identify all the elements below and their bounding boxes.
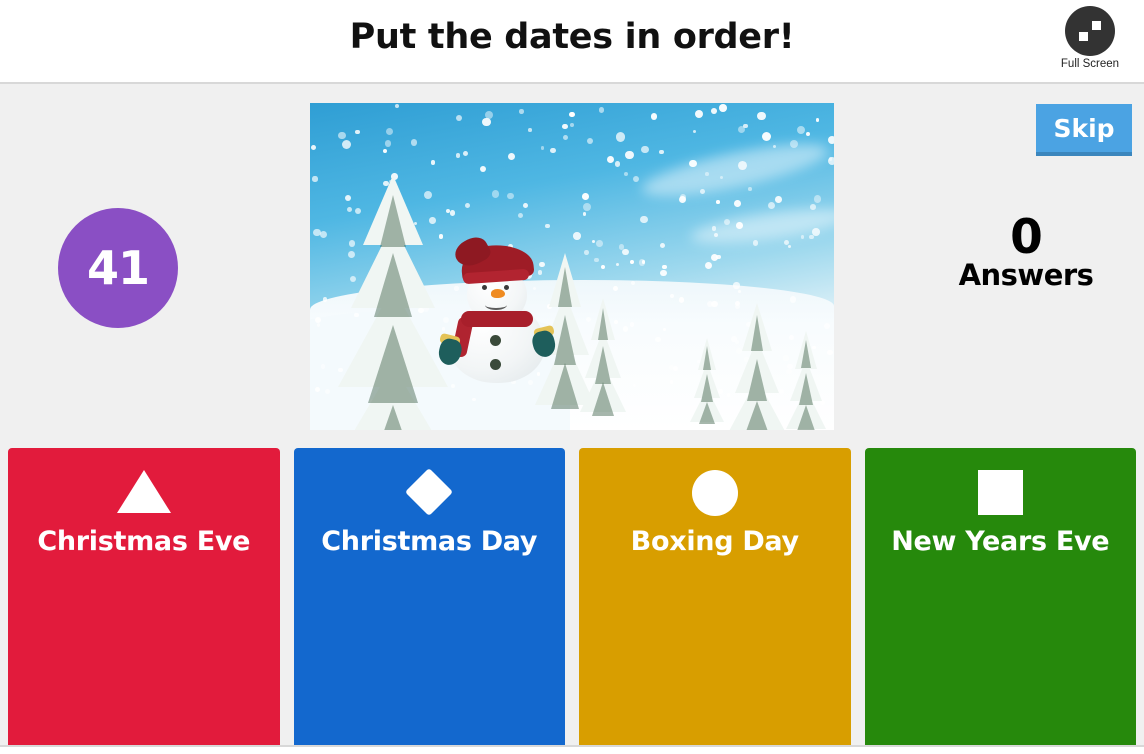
answers-counter: 0 Answers [940,216,1112,290]
snowman-carrot-nose [491,289,505,298]
snowflake-icon [705,262,712,269]
snowman-scarf [461,311,533,327]
bottom-strip [0,745,1144,754]
snowflake-icon [748,187,752,191]
snowflake-icon [411,139,417,145]
answer-tile-label: Boxing Day [579,526,851,557]
expand-icon-corner-tr [1092,21,1101,30]
snowflake-icon [757,112,765,120]
question-image [310,103,834,430]
snowflake-icon [528,128,532,132]
snowflake-icon [518,213,523,218]
snowflake-icon [660,270,666,276]
snowflake-icon [640,216,647,223]
snowflake-icon [596,240,603,247]
snowflake-icon [827,350,832,355]
snowflake-icon [790,140,798,148]
snowflake-icon [573,232,581,240]
snowflake-icon [705,172,709,176]
snowflake-icon [321,364,326,369]
square-icon [865,470,1137,516]
answer-tile-1[interactable]: Christmas Day [294,448,566,746]
pine-tree-icon [786,331,826,426]
snowflake-icon [679,297,685,303]
snowflake-icon [716,200,720,204]
pine-tree-icon [580,298,626,408]
diamond-icon [294,470,566,516]
snowflake-icon [716,255,721,260]
answer-tile-3[interactable]: New Years Eve [865,448,1137,746]
snowflake-icon [707,301,713,307]
snowflake-icon [775,196,782,203]
snowflake-icon [700,189,705,194]
quiz-screen: Put the dates in order! Full Screen Skip… [0,0,1144,754]
snowman-icon [437,253,557,383]
snowflake-icon [768,202,775,209]
triangle-icon [8,470,280,516]
header-bar: Put the dates in order! Full Screen [0,0,1144,84]
snowflake-icon [599,107,605,113]
snowman-button [490,335,501,346]
answer-tiles: Christmas Eve Christmas Day Boxing Day N… [0,448,1144,746]
snowflake-icon [660,243,665,248]
snowflake-icon [385,140,392,147]
snowflake-icon [519,109,524,114]
snowflake-icon [616,132,625,141]
answer-tile-label: Christmas Eve [8,526,280,557]
snowflake-icon [317,323,320,326]
snowman-button [490,359,501,370]
snowflake-icon [355,130,360,135]
snowflake-icon [689,160,697,168]
snowflake-icon [790,296,797,303]
answer-tile-2[interactable]: Boxing Day [579,448,851,746]
snowflake-icon [583,203,591,211]
snowflake-icon [311,145,316,150]
answers-label: Answers [940,260,1112,290]
snowflake-icon [814,195,821,202]
snowflake-icon [587,138,593,144]
snowflake-icon [625,151,634,160]
snowflake-icon [736,222,743,229]
skip-button[interactable]: Skip [1036,104,1132,156]
timer-value: 41 [87,241,149,295]
snowflake-icon [338,132,346,140]
countdown-timer: 41 [58,208,178,328]
fullscreen-label: Full Screen [1050,58,1130,70]
snowflake-icon [563,135,568,140]
snowflake-icon [630,322,635,327]
snowman-eye-left [482,285,487,290]
answer-tile-label: Christmas Day [294,526,566,557]
circle-icon [579,470,851,516]
expand-icon-corner-bl [1079,32,1088,41]
snowflake-icon [712,226,716,230]
snowflake-icon [639,259,646,266]
snowflake-icon [806,132,810,136]
snowflake-icon [680,194,686,200]
expand-icon [1065,6,1115,56]
pine-tree-icon [728,303,786,428]
snowflake-icon [828,136,834,144]
answer-tile-0[interactable]: Christmas Eve [8,448,280,746]
fullscreen-button[interactable]: Full Screen [1050,6,1130,78]
snowflake-icon [810,204,816,210]
snowflake-icon [743,124,747,128]
snowflake-icon [784,240,789,245]
snowflake-icon [719,104,727,112]
snowflake-icon [824,323,830,329]
snowflake-icon [733,282,739,288]
snowman-eye-right [504,285,509,290]
snowflake-icon [472,398,476,402]
snowflake-icon [569,112,575,118]
page-title: Put the dates in order! [0,17,1144,57]
snowflake-icon [607,156,614,163]
pine-tree-icon [690,338,724,420]
snowflake-icon [738,161,747,170]
snowflake-icon [714,233,718,237]
snowflake-icon [797,126,805,134]
answers-count: 0 [940,216,1112,260]
snowflake-icon [582,193,589,200]
snowflake-icon [788,245,791,248]
snowflake-icon [523,203,528,208]
snowman-mouth [485,300,507,310]
snowflake-icon [562,124,567,129]
snowflake-icon [315,387,320,392]
snowflake-icon [670,294,674,298]
snowflake-icon [670,380,673,383]
snowflake-icon [828,157,834,165]
snowflake-icon [624,172,628,176]
snowflake-icon [641,146,649,154]
snowflake-icon [655,337,661,343]
answer-tile-label: New Years Eve [865,526,1137,557]
snowflake-icon [812,228,820,236]
snowflake-icon [312,176,317,181]
snowflake-icon [734,200,741,207]
